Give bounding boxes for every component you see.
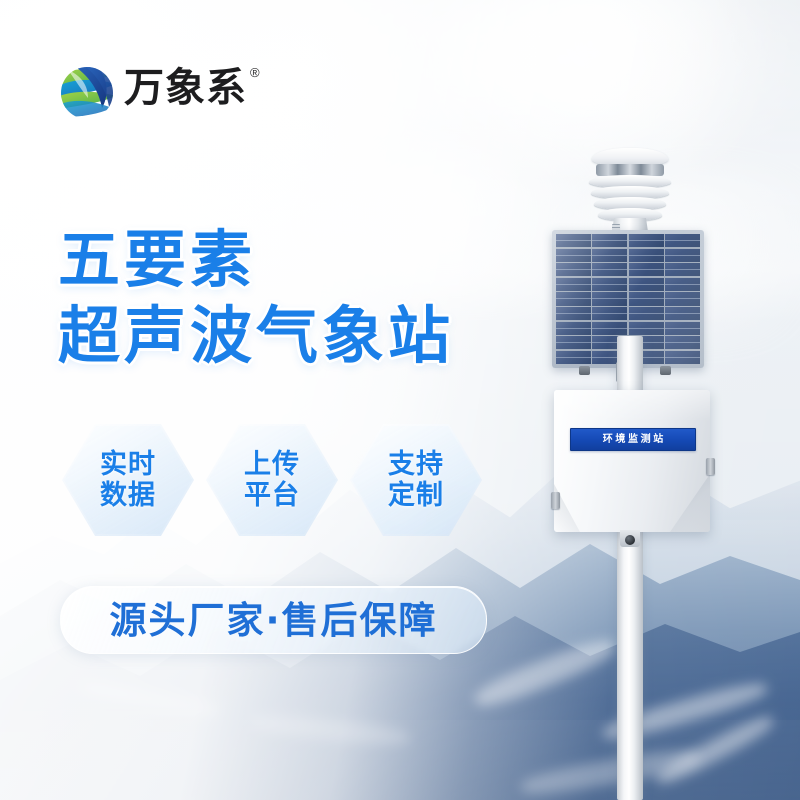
feature-badge-list: 实时 数据 上传 平台 支持 定制 [62,424,482,536]
bracket-fastener [579,366,590,375]
weather-station-product: 环境监测站 [520,140,750,800]
feature-badge-line-2: 数据 [100,480,156,511]
solar-cell [592,292,627,305]
solar-cell [556,234,591,247]
brand-name: 万象系 [124,68,247,108]
solar-cell [665,278,700,291]
solar-cell [665,263,700,276]
solar-cell [665,234,700,247]
solar-cell [556,249,591,262]
solar-cell [629,234,664,247]
product-poster: 环境监测站 [0,0,800,800]
registered-trademark-icon: ® [250,66,260,79]
headline-line-2: 超声波气象站 [58,298,528,374]
solar-cell [556,278,591,291]
feature-badge-line-1: 实时 [100,449,156,480]
solar-cell [665,336,700,349]
headline-line-1: 五要素 [58,222,528,298]
solar-cell [665,351,700,364]
brand-logo: 万象系 ® [58,62,258,124]
solar-cell [556,322,591,335]
swirling-globe-logo-icon [58,64,116,122]
solar-cell [556,336,591,349]
feature-badge-upload-platform[interactable]: 上传 平台 [206,424,338,536]
bottom-sensor-lens [625,535,635,545]
solar-cell [592,278,627,291]
feature-badge-line-2: 平台 [244,480,300,511]
enclosure-label-text: 环境监测站 [600,435,666,445]
enclosure-latch [706,458,715,475]
feature-badge-customization[interactable]: 支持 定制 [350,424,482,536]
solar-cell [665,322,700,335]
solar-cell [629,322,664,335]
guarantee-banner: 源头厂家·售后保障 [60,586,487,654]
solar-cell [665,307,700,320]
solar-cell [592,263,627,276]
feature-badge-line-1: 支持 [388,449,444,480]
solar-cell [592,234,627,247]
feature-badge-line-2: 定制 [388,480,444,511]
solar-cell [629,263,664,276]
solar-cell [592,322,627,335]
bracket-fastener [660,366,671,375]
page-title: 五要素 超声波气象站 [58,222,528,373]
guarantee-banner-text: 源头厂家·售后保障 [109,602,437,639]
feature-badge-line-1: 上传 [244,449,300,480]
enclosure-latch [551,492,560,509]
solar-cell [629,307,664,320]
solar-cell [665,249,700,262]
solar-cell [556,351,591,364]
solar-cell [592,249,627,262]
enclosure-label: 环境监测站 [570,428,696,451]
solar-cell [629,292,664,305]
solar-cell [556,263,591,276]
solar-cell [629,249,664,262]
solar-cell [665,292,700,305]
solar-cell [556,307,591,320]
solar-cell [592,307,627,320]
solar-cell [556,292,591,305]
feature-badge-realtime-data[interactable]: 实时 数据 [62,424,194,536]
solar-cell [629,278,664,291]
